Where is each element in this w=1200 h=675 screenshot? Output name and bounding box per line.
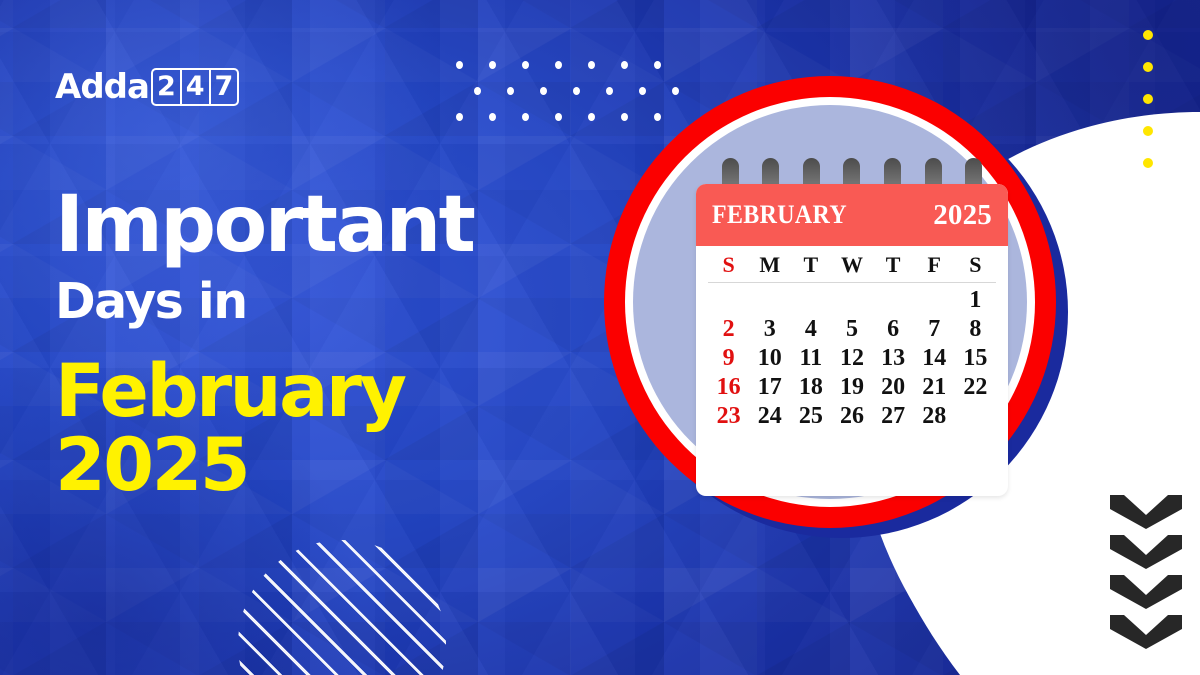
calendar-day-23[interactable]: 23 — [708, 403, 749, 430]
calendar-day-8[interactable]: 8 — [955, 316, 996, 343]
calendar-body: SMTWTFS 00000012345678910111213141516171… — [696, 246, 1008, 438]
headline-year: 2025 — [55, 429, 473, 503]
calendar-dow-0: S — [708, 252, 749, 278]
calendar-day-19[interactable]: 19 — [831, 374, 872, 401]
headline-highlight: February 2025 — [55, 355, 473, 504]
calendar-day-13[interactable]: 13 — [873, 345, 914, 372]
logo-digit-2: 2 — [153, 70, 182, 104]
logo-wordmark: Adda — [55, 70, 149, 104]
yellow-dot-column-decoration — [1143, 30, 1153, 168]
logo-digit-7: 7 — [211, 70, 238, 104]
calendar-day-16[interactable]: 16 — [708, 374, 749, 401]
calendar-day-grid: 0000001234567891011121314151617181920212… — [708, 283, 996, 430]
logo-digit-4: 4 — [182, 70, 211, 104]
poster-canvas: Adda 2 4 7 Important Days in February 20… — [0, 0, 1200, 675]
calendar-dow-2: T — [790, 252, 831, 278]
calendar-day-27[interactable]: 27 — [873, 403, 914, 430]
calendar-dow-5: F — [914, 252, 955, 278]
calendar-day-28[interactable]: 28 — [914, 403, 955, 430]
calendar-day-22[interactable]: 22 — [955, 374, 996, 401]
calendar-dow-3: W — [831, 252, 872, 278]
calendar-day-20[interactable]: 20 — [873, 374, 914, 401]
calendar-day-21[interactable]: 21 — [914, 374, 955, 401]
chevron-down-icon — [1110, 495, 1182, 529]
calendar-day-10[interactable]: 10 — [749, 345, 790, 372]
calendar-day-headers: SMTWTFS — [708, 252, 996, 283]
headline-month: February — [55, 349, 405, 434]
calendar-day-26[interactable]: 26 — [831, 403, 872, 430]
calendar-month-label: FEBRUARY — [712, 200, 847, 230]
calendar-badge: FEBRUARY 2025 SMTWTFS 000000123456789101… — [600, 72, 1070, 632]
calendar-day-5[interactable]: 5 — [831, 316, 872, 343]
calendar-day-11[interactable]: 11 — [790, 345, 831, 372]
calendar-day-12[interactable]: 12 — [831, 345, 872, 372]
chevron-stack-decoration — [1110, 495, 1182, 649]
calendar-year-label: 2025 — [933, 199, 992, 232]
calendar-day-7[interactable]: 7 — [914, 316, 955, 343]
calendar-day-25[interactable]: 25 — [790, 403, 831, 430]
calendar-day-18[interactable]: 18 — [790, 374, 831, 401]
calendar-day-15[interactable]: 15 — [955, 345, 996, 372]
chevron-down-icon — [1110, 615, 1182, 649]
calendar-day-6[interactable]: 6 — [873, 316, 914, 343]
calendar-header: FEBRUARY 2025 — [696, 184, 1008, 246]
calendar-sheet: FEBRUARY 2025 SMTWTFS 000000123456789101… — [696, 184, 1008, 496]
calendar-day-24[interactable]: 24 — [749, 403, 790, 430]
logo-number-badge: 2 4 7 — [151, 68, 239, 106]
calendar-day-14[interactable]: 14 — [914, 345, 955, 372]
calendar-dow-1: M — [749, 252, 790, 278]
chevron-down-icon — [1110, 535, 1182, 569]
calendar-day-2[interactable]: 2 — [708, 316, 749, 343]
headline-primary: Important — [55, 188, 473, 263]
calendar-dow-6: S — [955, 252, 996, 278]
calendar-day-9[interactable]: 9 — [708, 345, 749, 372]
chevron-down-icon — [1110, 575, 1182, 609]
calendar-day-4[interactable]: 4 — [790, 316, 831, 343]
calendar-dow-4: T — [873, 252, 914, 278]
calendar-day-17[interactable]: 17 — [749, 374, 790, 401]
adda247-logo[interactable]: Adda 2 4 7 — [55, 68, 239, 106]
calendar-day-3[interactable]: 3 — [749, 316, 790, 343]
headline-secondary: Days in — [55, 277, 473, 327]
calendar-day-1[interactable]: 1 — [955, 287, 996, 314]
headline-block: Important Days in February 2025 — [55, 188, 473, 504]
